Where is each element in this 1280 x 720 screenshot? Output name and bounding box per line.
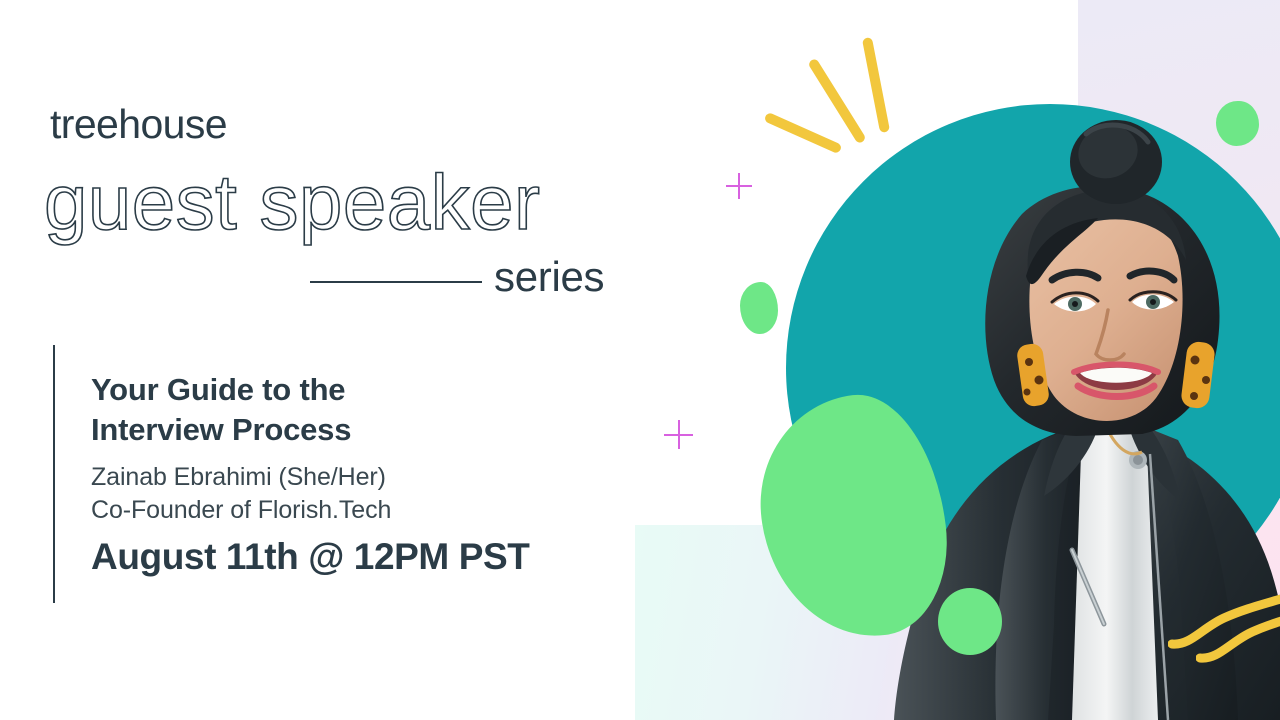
- green-blob-left-icon: [740, 282, 778, 334]
- brand-name: treehouse: [50, 104, 227, 145]
- speaker-name: Zainab Ebrahimi (She/Her): [91, 461, 386, 494]
- speaker-portrait-illustration: [786, 104, 1280, 720]
- speaker-portrait: [786, 104, 1280, 632]
- series-word: series: [494, 256, 604, 298]
- text-column: treehouse guest speaker series Your Guid…: [0, 0, 660, 720]
- event-date-time: August 11th @ 12PM PST: [91, 537, 529, 578]
- details-vertical-rule: [53, 345, 55, 603]
- headline-outline: guest speaker: [44, 163, 540, 241]
- speaker-role: Co-Founder of Florish.Tech: [91, 494, 391, 527]
- magenta-cross-upper-icon: [726, 173, 752, 199]
- magenta-cross-lower-icon: [664, 420, 693, 449]
- presentation-slide: treehouse guest speaker series Your Guid…: [0, 0, 1280, 720]
- series-divider-rule: [310, 281, 482, 283]
- talk-title: Your Guide to the Interview Process: [91, 370, 351, 449]
